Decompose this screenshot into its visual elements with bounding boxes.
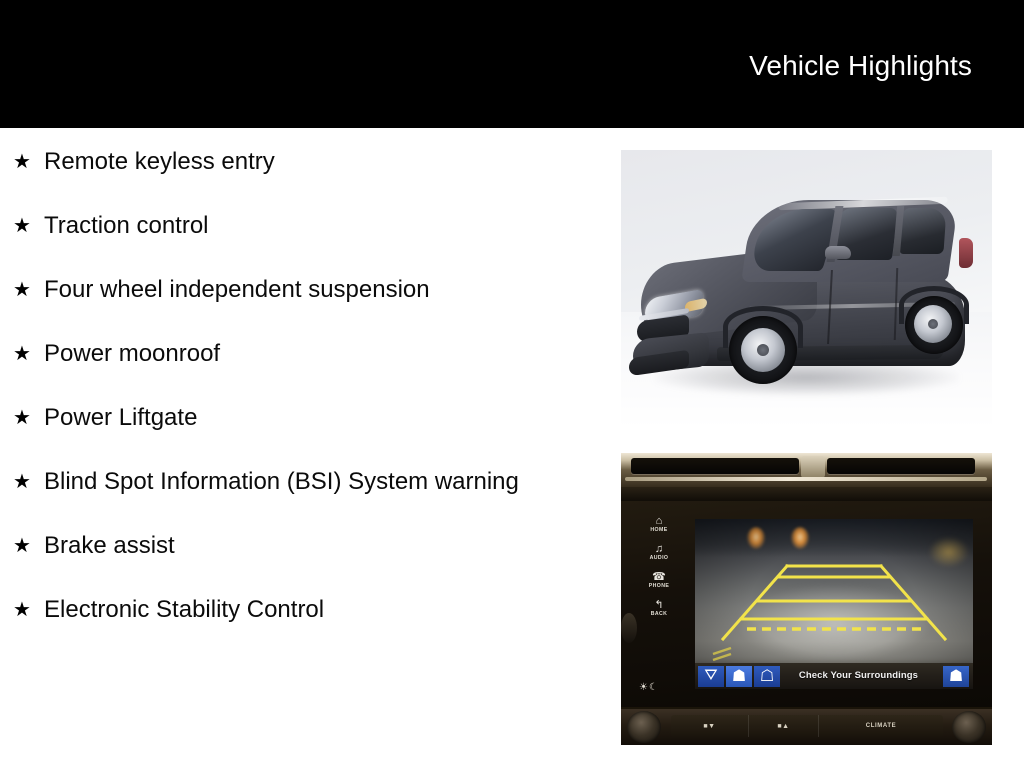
list-item-label: Blind Spot Information (BSI) System warn…: [44, 468, 519, 495]
vehicle-highlights-list: ★ Remote keyless entry ★ Traction contro…: [0, 145, 600, 627]
phone-icon: ☎: [652, 571, 666, 583]
fan-up-icon: ■▲: [777, 723, 789, 730]
music-note-icon: ♫: [655, 543, 663, 555]
wide-view-button[interactable]: ⛛: [698, 666, 724, 687]
list-item: ★ Remote keyless entry: [0, 145, 530, 179]
temperature-dial-left[interactable]: [627, 711, 661, 743]
air-vent-slot: [631, 458, 799, 474]
media-column: ⌂ HOME ♫ AUDIO ☎ PHONE ↰ BACK: [621, 150, 992, 745]
temperature-dial-right[interactable]: [952, 711, 986, 743]
star-icon: ★: [13, 529, 31, 563]
camera-view-mode-buttons: ⛛ ☗ ☖: [698, 666, 780, 687]
list-item: ★ Power Liftgate: [0, 401, 530, 435]
backup-camera-screen[interactable]: ⛛ ☗ ☖ Check Your Surroundings ☗: [695, 519, 973, 689]
climate-button-row: ■▼ ■▲ CLIMATE: [671, 715, 943, 737]
rear-door-glass: [899, 208, 946, 254]
air-vent-knob: [801, 456, 825, 478]
vehicle-body: [629, 178, 985, 400]
back-button[interactable]: ↰ BACK: [637, 599, 681, 618]
list-item: ★ Four wheel independent suspension: [0, 273, 530, 307]
side-mirror: [825, 246, 851, 259]
camera-status-bar: ⛛ ☗ ☖ Check Your Surroundings ☗: [695, 663, 973, 689]
list-item-label: Remote keyless entry: [44, 148, 275, 175]
air-vent-slot: [827, 458, 975, 474]
back-arrow-icon: ↰: [654, 599, 663, 611]
climate-control-strip: ■▼ ■▲ CLIMATE: [621, 709, 992, 745]
home-icon: ⌂: [656, 515, 663, 527]
infotainment-head-unit: ⌂ HOME ♫ AUDIO ☎ PHONE ↰ BACK: [621, 501, 992, 707]
fan-up-button[interactable]: ■▲: [749, 715, 819, 737]
star-icon: ★: [13, 273, 31, 307]
back-button-label: BACK: [651, 611, 668, 618]
star-icon: ★: [13, 337, 31, 371]
climate-button-label: CLIMATE: [866, 723, 896, 729]
star-icon: ★: [13, 209, 31, 243]
guidelines-icon: ☗: [949, 666, 963, 686]
slide-header-bar: Vehicle Highlights: [0, 0, 1024, 128]
taillight: [959, 238, 973, 268]
rear-hub: [928, 319, 938, 329]
list-item-label: Four wheel independent suspension: [44, 276, 430, 303]
page-title: Vehicle Highlights: [749, 50, 972, 82]
list-item-label: Power moonroof: [44, 340, 220, 367]
floor-marking: [713, 648, 731, 660]
list-item-label: Traction control: [44, 212, 209, 239]
fan-down-button[interactable]: ■▼: [671, 715, 749, 737]
head-unit-side-buttons: ⌂ HOME ♫ AUDIO ☎ PHONE ↰ BACK: [633, 515, 685, 695]
check-your-surroundings-message: Check Your Surroundings: [780, 670, 943, 682]
normal-view-button[interactable]: ☗: [726, 666, 752, 687]
home-button[interactable]: ⌂ HOME: [637, 515, 681, 534]
list-item: ★ Brake assist: [0, 529, 530, 563]
top-down-view-icon: ☖: [760, 666, 774, 686]
audio-button[interactable]: ♫ AUDIO: [637, 543, 681, 562]
audio-button-label: AUDIO: [650, 555, 669, 562]
brightness-day-night-icon[interactable]: ☀☾: [639, 682, 659, 693]
front-hub: [757, 344, 769, 356]
top-down-view-button[interactable]: ☖: [754, 666, 780, 687]
vehicle-exterior-photo: [621, 150, 992, 429]
phone-button-label: PHONE: [649, 583, 669, 590]
star-icon: ★: [13, 145, 31, 179]
star-icon: ★: [13, 465, 31, 499]
star-icon: ★: [13, 593, 31, 627]
list-item: ★ Electronic Stability Control: [0, 593, 530, 627]
list-item-label: Power Liftgate: [44, 404, 197, 431]
star-icon: ★: [13, 401, 31, 435]
list-item: ★ Power moonroof: [0, 337, 530, 371]
phone-button[interactable]: ☎ PHONE: [637, 571, 681, 590]
guidelines-toggle-button[interactable]: ☗: [943, 666, 969, 687]
climate-button[interactable]: CLIMATE: [819, 715, 943, 737]
home-button-label: HOME: [650, 527, 667, 534]
vent-chrome-trim: [625, 477, 987, 481]
dashboard-backup-camera-photo: ⌂ HOME ♫ AUDIO ☎ PHONE ↰ BACK: [621, 453, 992, 745]
list-item: ★ Blind Spot Information (BSI) System wa…: [0, 465, 530, 499]
list-item-label: Electronic Stability Control: [44, 596, 324, 623]
fan-down-icon: ■▼: [703, 723, 715, 730]
list-item: ★ Traction control: [0, 209, 530, 243]
wide-view-icon: ⛛: [704, 667, 717, 685]
list-item-label: Brake assist: [44, 532, 175, 559]
normal-view-icon: ☗: [732, 666, 746, 686]
slide-root: Vehicle Highlights ★ Remote keyless entr…: [0, 0, 1024, 768]
